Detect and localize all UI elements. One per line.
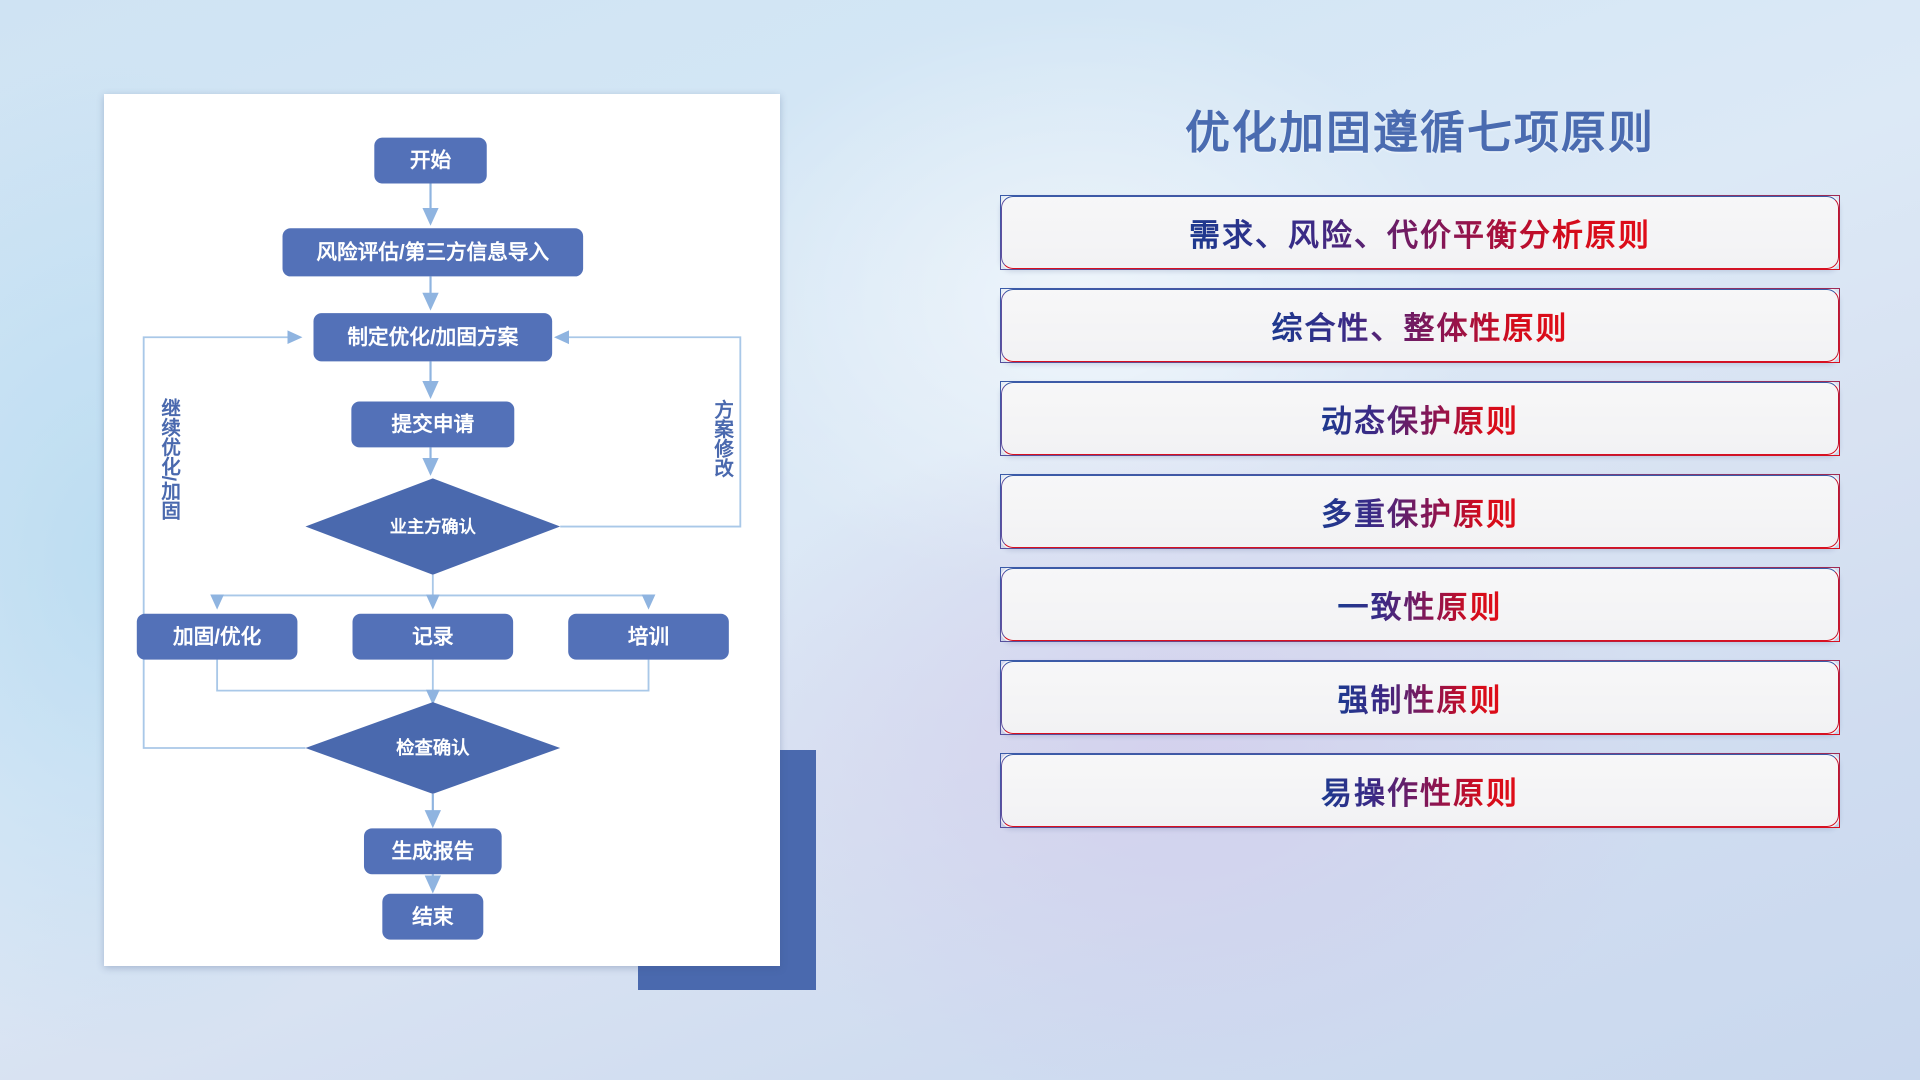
principle-label: 需求、风险、代价平衡分析原则 (1189, 210, 1651, 255)
flow-node-record[interactable]: 记录 (353, 614, 514, 660)
principles-list: 需求、风险、代价平衡分析原则 综合性、整体性原则 动态保护原则 多重保护原则 一… (1000, 195, 1840, 828)
flow-node-submit-application[interactable]: 提交申请 (351, 401, 514, 447)
principle-card[interactable]: 需求、风险、代价平衡分析原则 (1000, 195, 1840, 270)
principle-card[interactable]: 动态保护原则 (1000, 381, 1840, 456)
flow-node-risk-assessment-label: 风险评估/第三方信息导入 (316, 240, 549, 264)
principles-title: 优化加固遵循七项原则 (1000, 96, 1840, 161)
flow-node-end[interactable]: 结束 (382, 894, 483, 940)
flow-node-end-label: 结束 (412, 904, 454, 928)
flow-node-owner-confirmation[interactable]: 业主方确认 (305, 478, 560, 574)
flow-node-generate-report-label: 生成报告 (392, 839, 475, 863)
flow-node-start-label: 开始 (410, 148, 452, 172)
flow-node-make-plan-label: 制定优化/加固方案 (347, 325, 518, 349)
flow-node-generate-report[interactable]: 生成报告 (364, 828, 502, 874)
flow-node-reinforce-optimize[interactable]: 加固/优化 (137, 614, 298, 660)
principle-card[interactable]: 综合性、整体性原则 (1000, 288, 1840, 363)
flow-node-submit-application-label: 提交申请 (392, 412, 475, 436)
flow-node-risk-assessment[interactable]: 风险评估/第三方信息导入 (283, 228, 584, 276)
principle-label: 强制性原则 (1338, 675, 1503, 720)
principle-card[interactable]: 多重保护原则 (1000, 474, 1840, 549)
principle-label: 多重保护原则 (1321, 489, 1519, 534)
flow-node-training-label: 培训 (628, 624, 669, 648)
flow-node-inspection-confirmation-label: 检查确认 (396, 737, 470, 758)
flow-node-reinforce-optimize-label: 加固/优化 (172, 624, 262, 648)
flowchart-diagram: 开始 风险评估/第三方信息导入 制定优化/加固方案 提交申请 业主方确认 加固/… (104, 94, 780, 966)
flow-edge-label-plan-revision: 方案修改 (711, 398, 735, 477)
principle-card[interactable]: 强制性原则 (1000, 660, 1840, 735)
flow-edge-label-continue-optimize: 继续优化/加固 (158, 397, 182, 521)
principle-label: 一致性原则 (1338, 582, 1503, 627)
principle-label: 易操作性原则 (1321, 768, 1519, 813)
flow-node-training[interactable]: 培训 (568, 614, 729, 660)
flowchart-card: 开始 风险评估/第三方信息导入 制定优化/加固方案 提交申请 业主方确认 加固/… (104, 94, 780, 966)
flow-node-start[interactable]: 开始 (374, 138, 486, 184)
principle-label: 综合性、整体性原则 (1272, 303, 1569, 348)
principle-card[interactable]: 易操作性原则 (1000, 753, 1840, 828)
flow-node-make-plan[interactable]: 制定优化/加固方案 (313, 313, 552, 361)
flow-node-record-label: 记录 (412, 625, 454, 648)
flow-node-inspection-confirmation[interactable]: 检查确认 (305, 702, 560, 794)
principles-panel: 优化加固遵循七项原则 需求、风险、代价平衡分析原则 综合性、整体性原则 动态保护… (1000, 96, 1840, 996)
principle-label: 动态保护原则 (1321, 396, 1519, 441)
flow-node-owner-confirmation-label: 业主方确认 (390, 516, 477, 536)
principle-card[interactable]: 一致性原则 (1000, 567, 1840, 642)
